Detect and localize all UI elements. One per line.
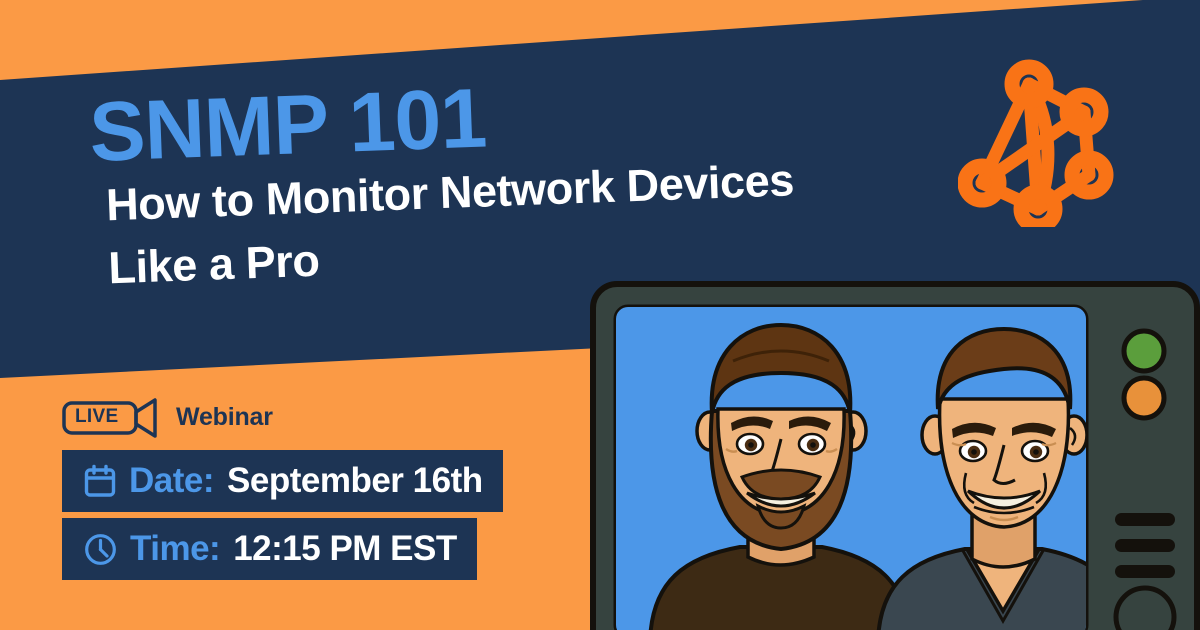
- live-badge-text: LIVE: [75, 406, 118, 428]
- speaker-slot: [1115, 539, 1175, 552]
- time-bar: Time: 12:15 PM EST: [62, 518, 477, 580]
- clock-icon: [84, 533, 117, 566]
- speaker-slot: [1115, 565, 1175, 578]
- date-value: September 16th: [227, 461, 483, 501]
- webinar-label: Webinar: [176, 403, 273, 432]
- network-graph-icon: [958, 52, 1126, 232]
- calendar-icon: [84, 464, 116, 498]
- promo-banner: SNMP 101 How to Monitor Network Devices …: [0, 0, 1200, 630]
- retro-monitor: [590, 281, 1200, 630]
- video-camera-icon: LIVE: [62, 396, 162, 438]
- live-webinar-row: LIVE Webinar: [62, 396, 273, 438]
- speaker-slot: [1115, 513, 1175, 526]
- headline-block: SNMP 101 How to Monitor Network Devices …: [88, 62, 925, 295]
- two-hosts-video-feed: [616, 307, 1128, 630]
- date-bar: Date: September 16th: [62, 450, 503, 512]
- date-label: Date:: [129, 461, 214, 501]
- time-value: 12:15 PM EST: [233, 529, 457, 569]
- green-led: [1124, 331, 1164, 371]
- orange-led: [1124, 378, 1164, 418]
- time-label: Time:: [130, 529, 220, 569]
